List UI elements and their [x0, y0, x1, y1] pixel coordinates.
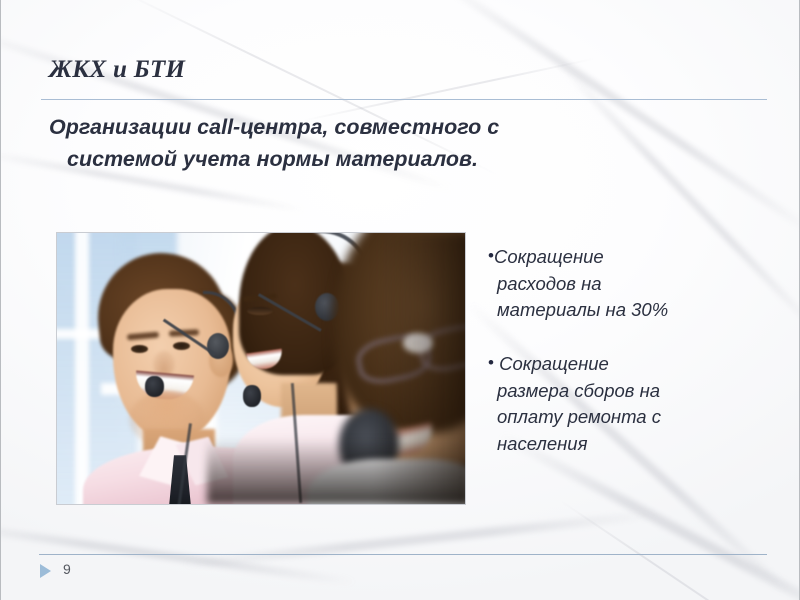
photo-man-microphone [145, 376, 164, 397]
play-triangle-icon [40, 564, 51, 578]
bullet-line-3: оплату ремонта с [488, 404, 770, 431]
photo-man-eye [131, 345, 148, 353]
photo-scene [57, 233, 465, 504]
bullet-line-1: Сокращение [494, 246, 604, 267]
bullet-line-1: Сокращение [494, 353, 609, 374]
photo-man-eye [173, 342, 190, 350]
page-number: 9 [63, 561, 71, 577]
page-title: ЖКХ и БТИ [49, 56, 749, 84]
slide-subtitle: Организации call-центра, совместного с с… [49, 111, 659, 175]
bullet-line-4: населения [488, 431, 770, 458]
photo-woman-microphone [243, 385, 261, 407]
call-center-photo [56, 232, 466, 505]
bullet-line-2: расходов на [488, 271, 770, 298]
subtitle-line-1: Организации call-центра, совместного с [49, 115, 499, 139]
bullet-list: •Сокращение расходов на материалы на 30%… [488, 243, 770, 457]
bullet-line-2: размера сборов на [488, 378, 770, 405]
photo-bottom-shadow [207, 438, 465, 504]
list-item: • Сокращение размера сборов на оплату ре… [488, 350, 770, 457]
subtitle-line-2: системой учета нормы материалов. [49, 143, 659, 175]
bullet-line-3: материалы на 30% [488, 297, 770, 324]
photo-window-frame [75, 233, 89, 504]
footer-divider [39, 554, 767, 555]
photo-woman-eye [247, 307, 273, 315]
photo-man-headset-earcup [207, 333, 229, 359]
slide-canvas: ЖКХ и БТИ Организации call-центра, совме… [0, 0, 800, 600]
title-divider [41, 99, 767, 100]
list-item: •Сокращение расходов на материалы на 30% [488, 243, 770, 324]
